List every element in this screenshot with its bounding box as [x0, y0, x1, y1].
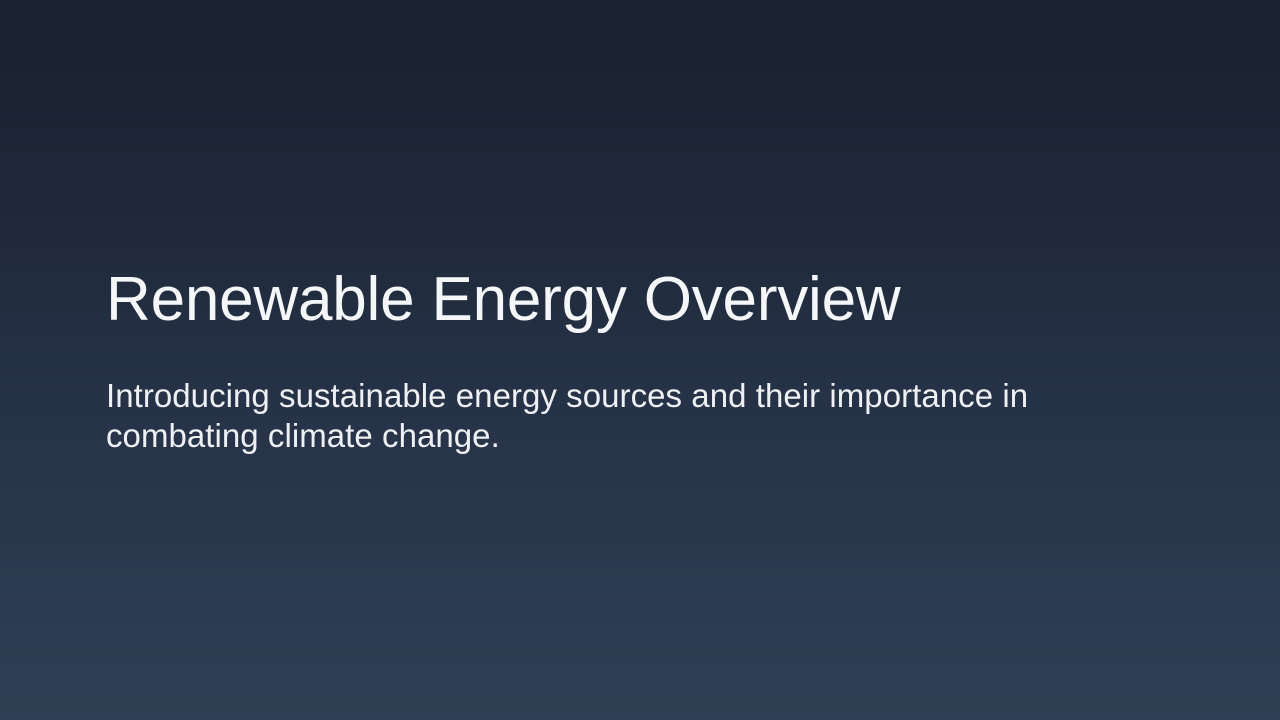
presentation-slide: Renewable Energy Overview Introducing su…: [0, 0, 1280, 720]
slide-subtitle: Introducing sustainable energy sources a…: [106, 376, 1156, 455]
slide-text-block: Renewable Energy Overview Introducing su…: [106, 0, 1166, 720]
slide-title: Renewable Energy Overview: [106, 265, 901, 334]
